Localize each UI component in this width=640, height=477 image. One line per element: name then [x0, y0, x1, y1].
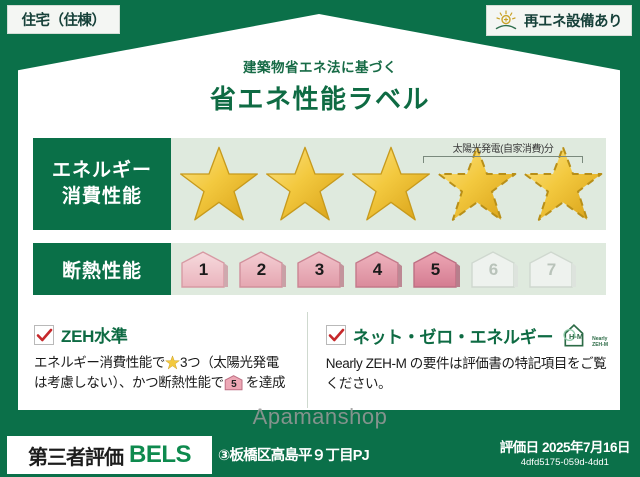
title-block: 建築物省エネ法に基づく 省エネ性能ラベル	[0, 56, 640, 116]
energy-label-line2: 消費性能	[62, 184, 142, 210]
energy-performance-body: 太陽光発電(自家消費)分	[171, 138, 606, 230]
renewable-badge-label: 再エネ設備あり	[524, 10, 622, 31]
energy-performance-label: 住宅（住棟） 再エネ設備あり 建築物省エネ法に基づく 省エネ性能ラベル	[0, 0, 640, 477]
energy-performance-label: エネルギー 消費性能	[33, 138, 171, 230]
check-icon	[326, 325, 346, 345]
zeh-criteria-column: ZEH水準 エネルギー消費性能で 3つ（太陽光発電 は考慮しない）、かつ断熱性能…	[18, 312, 307, 408]
check-icon	[34, 325, 54, 345]
insulation-performance-body: 1 2	[171, 243, 606, 295]
insulation-level-2-number: 2	[237, 260, 286, 280]
insulation-level-1: 1	[179, 249, 234, 289]
svg-text:H-M: H-M	[569, 332, 583, 341]
insulation-level-4: 4	[353, 249, 408, 289]
insulation-level-7: 7	[527, 249, 582, 289]
insulation-level-3-number: 3	[295, 260, 344, 280]
zeh-desc-part1: エネルギー消費性能で	[34, 355, 165, 370]
solar-annotation-label: 太陽光発電(自家消費)分	[408, 140, 598, 155]
net-zero-criteria-description: Nearly ZEH-M の要件は評価書の特記項目をご覧ください。	[326, 354, 608, 395]
solar-bracket	[423, 156, 583, 163]
footer-bar: 第三者評価 BELS ③板橋区高島平９丁目PJ 評価日 2025年7月16日 4…	[0, 433, 640, 477]
insulation-performance-label: 断熱性能	[33, 243, 171, 295]
zeh-criteria-title: ZEH水準	[61, 322, 128, 347]
star-filled-2	[263, 144, 347, 224]
insulation-label-text: 断熱性能	[62, 256, 142, 283]
property-address: ③板橋区高島平９丁目PJ	[218, 444, 369, 465]
dwelling-type-label: 住宅（住棟）	[22, 9, 106, 30]
criteria-section: ZEH水準 エネルギー消費性能で 3つ（太陽光発電 は考慮しない）、かつ断熱性能…	[18, 312, 620, 408]
evaluation-id: 4dfd5175-059d-4dd1	[500, 457, 630, 468]
zeh-desc-star-text: 3つ（太陽光発電	[180, 355, 279, 370]
inline-insulation-badge: 5	[224, 374, 246, 391]
solar-annotation: 太陽光発電(自家消費)分	[408, 140, 598, 163]
insulation-level-1-number: 1	[179, 260, 228, 280]
renewable-equipment-badge: 再エネ設備あり	[486, 5, 632, 36]
inline-insulation-badge-number: 5	[224, 377, 244, 392]
net-zero-criteria-header: ネット・ゼロ・エネルギー H-M Nearly ZEH-M	[326, 322, 608, 348]
insulation-level-2: 2	[237, 249, 292, 289]
net-zero-criteria-title: ネット・ゼロ・エネルギー	[353, 323, 553, 348]
bels-en-label: BELS	[129, 441, 191, 469]
title-subtitle: 建築物省エネ法に基づく	[0, 56, 640, 76]
energy-label-line1: エネルギー	[52, 158, 152, 184]
evaluation-info: 評価日 2025年7月16日 4dfd5175-059d-4dd1	[500, 436, 630, 468]
insulation-level-5: 5	[411, 249, 466, 289]
zeh-desc-part2: は考慮しない）、かつ断熱性能で	[34, 375, 224, 390]
insulation-level-6-number: 6	[469, 260, 518, 280]
insulation-level-6: 6	[469, 249, 524, 289]
sun-icon	[493, 10, 519, 32]
zeh-m-caption-line2: ZEH-M	[592, 342, 608, 348]
star-filled-1	[177, 144, 261, 224]
insulation-level-4-number: 4	[353, 260, 402, 280]
zeh-m-logo-caption: Nearly ZEH-M	[592, 336, 608, 348]
evaluation-date: 評価日 2025年7月16日	[500, 436, 630, 456]
zeh-criteria-header: ZEH水準	[34, 322, 295, 347]
insulation-performance-row: 断熱性能 1	[33, 243, 606, 295]
energy-performance-row: エネルギー 消費性能 太陽光発電(自家消費)分	[33, 138, 606, 230]
bels-jp-label: 第三者評価	[28, 441, 123, 470]
page-title: 省エネ性能ラベル	[0, 79, 640, 116]
dwelling-type-tag: 住宅（住棟）	[7, 5, 120, 34]
zeh-criteria-description: エネルギー消費性能で 3つ（太陽光発電 は考慮しない）、かつ断熱性能で 5 を達…	[34, 353, 295, 394]
inline-star-icon	[165, 355, 180, 370]
net-zero-criteria-column: ネット・ゼロ・エネルギー H-M Nearly ZEH-M Nearly ZEH…	[307, 312, 620, 408]
bels-certification-plate: 第三者評価 BELS	[7, 436, 212, 474]
insulation-level-5-number: 5	[411, 260, 460, 280]
insulation-level-3: 3	[295, 249, 350, 289]
zeh-m-logo-icon: H-M Nearly ZEH-M	[562, 322, 608, 348]
insulation-level-7-number: 7	[527, 260, 576, 280]
insulation-level-scale: 1 2	[171, 243, 606, 295]
zeh-desc-part3: を達成	[246, 375, 285, 390]
